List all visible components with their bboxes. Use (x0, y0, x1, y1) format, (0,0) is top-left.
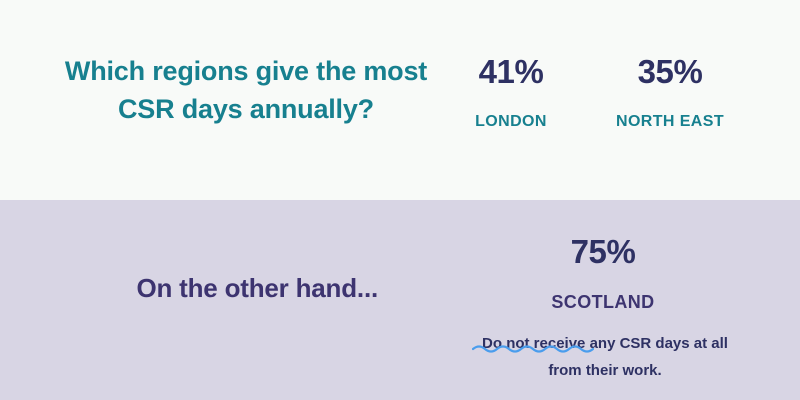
lead-in-text: On the other hand... (28, 271, 378, 305)
stat-scotland: 75% SCOTLAND (463, 232, 743, 313)
scotland-caption: Do not receive any CSR days at all from … (450, 330, 760, 384)
stat-london-value: 41% (431, 52, 591, 92)
stat-north-east-value: 35% (580, 52, 760, 92)
stat-north-east-label: NORTH EAST (580, 112, 760, 132)
stat-scotland-value: 75% (463, 232, 743, 272)
scotland-caption-line-2: from their work. (450, 357, 760, 384)
question-line-1: Which regions give the most (46, 52, 446, 90)
stat-north-east: 35% NORTH EAST (580, 52, 760, 132)
stat-scotland-label: SCOTLAND (463, 291, 743, 313)
question-heading: Which regions give the most CSR days ann… (46, 52, 446, 128)
stat-london-label: LONDON (431, 112, 591, 132)
question-line-2: CSR days annually? (46, 90, 446, 128)
wavy-underline-icon (472, 343, 594, 355)
infographic-root: Which regions give the most CSR days ann… (0, 0, 800, 400)
stat-london: 41% LONDON (431, 52, 591, 132)
